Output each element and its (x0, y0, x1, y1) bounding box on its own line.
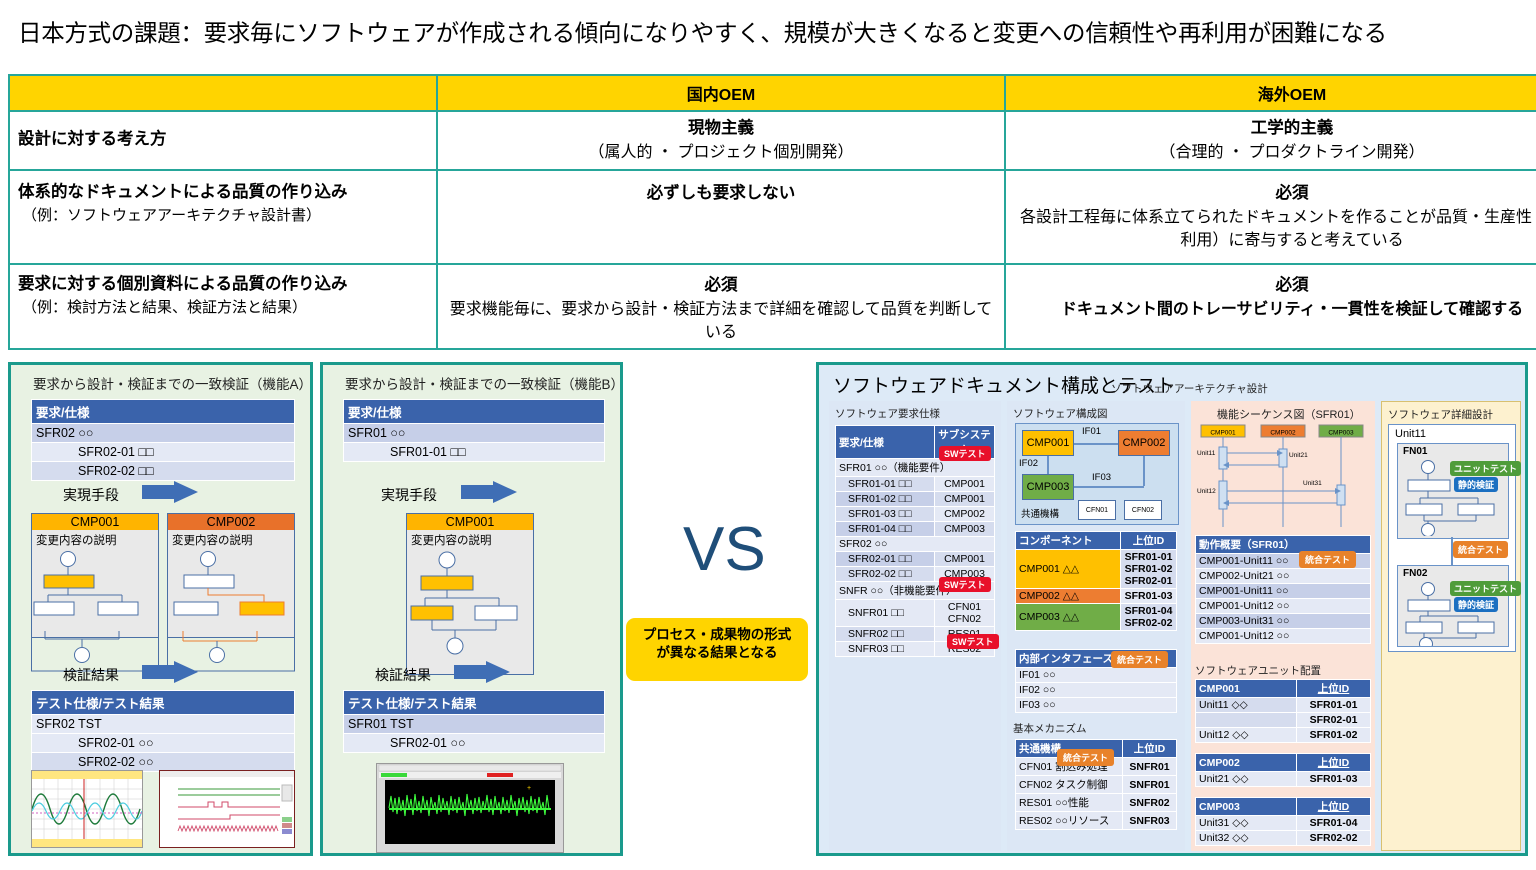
mechanism-id: SNFR01 (1123, 776, 1177, 794)
cell-sub: （合理的 ・ プロダクトライン開発） (1014, 141, 1536, 165)
unit-name: Unit32 ◇◇ (1196, 831, 1297, 846)
table-header-row: CMP001上位ID (1196, 680, 1371, 698)
unit-table-title: CMP003 (1196, 798, 1297, 816)
vs-badge-line1: プロセス・成果物の形式 (632, 626, 802, 644)
req-row: SFR01 ○○ (344, 424, 605, 443)
component-table: コンポーネント 上位ID CMP001 △△ SFR01-01 SFR01-02… (1015, 531, 1177, 631)
req-header: 要求/仕様 (32, 400, 295, 424)
unit-table-title: CMP001 (1196, 680, 1297, 698)
req-row: SFR02-02 □□ (32, 462, 295, 481)
oscilloscope-icon: + (377, 764, 563, 852)
unit-container: Unit11 FN01 (1388, 424, 1516, 652)
table-row: CFN02 タスク制御SNFR01 (1016, 776, 1177, 794)
req-id: SFR01-03 □□ (836, 507, 935, 522)
block-cmp003: CMP003 (1022, 474, 1074, 500)
table-row: RES01 ○○性能SNFR02 (1016, 794, 1177, 812)
summary-row: CMP001-Unit12 ○○ (1196, 599, 1371, 614)
down-arrow-icon (455, 479, 523, 509)
block-cmp002: CMP002 (1118, 430, 1170, 456)
component-name: CMP002 △△ (1016, 589, 1121, 604)
link-if01 (1074, 443, 1118, 445)
unit-id: SFR01-01 (1297, 698, 1371, 713)
comparison-table: 国内OEM 海外OEM 設計に対する考え方 現物主義 （属人的 ・ プロジェクト… (8, 74, 1536, 350)
summary-row: CMP003-Unit31 ○○ (1196, 614, 1371, 629)
row-label-2: 要求に対する個別資料による品質の作り込み （例：検討方法と結果、検証方法と結果） (9, 264, 437, 349)
sequence-diagram: CMP001 CMP002 CMP003 Unit11 Unit21 Unit1… (1195, 423, 1371, 533)
component-name: CMP001 (407, 514, 533, 530)
flowchart-icon (32, 550, 158, 628)
col-header-component: コンポーネント (1016, 532, 1121, 550)
test-header: テスト仕様/テスト結果 (344, 691, 605, 715)
unit-table-cmp001: CMP001上位ID Unit11 ◇◇SFR01-01 SFR02-01 Un… (1195, 679, 1371, 743)
panel-software-doc: ソフトウェアドキュメント構成とテスト ソフトウェアアーキテクチャ設計 ソフトウェ… (816, 362, 1528, 856)
mechanism-label: 基本メカニズム (1013, 721, 1087, 736)
svg-text:Unit31: Unit31 (1303, 480, 1322, 487)
component-desc: 変更内容の説明 (32, 530, 158, 550)
table-row: RES02 ○○リソースSNFR03 (1016, 812, 1177, 830)
component-desc: 変更内容の説明 (168, 530, 294, 550)
cell-sub: ドキュメント間のトレーサビリティ・一貫性を検証して確認する (1014, 298, 1536, 322)
component-box-cmp001: CMP001 変更内容の説明 (31, 513, 159, 638)
row-label-sub: （例：ソフトウェアアーキテクチャ設計書） (18, 205, 428, 227)
detail-design-label: ソフトウェア詳細設計 (1388, 407, 1493, 422)
table-row: CMP002-Unit21 ○○ (1196, 569, 1371, 584)
vs-conclusion-badge: プロセス・成果物の形式 が異なる結果となる (626, 618, 808, 681)
table-row: SFR02-01 □□CMP001 (836, 552, 995, 567)
table-row: CMP002 △△ SFR01-03 (1016, 589, 1177, 604)
table-row: CMP001-Unit12 ○○ (1196, 629, 1371, 644)
unit-id: SFR01-04 (1297, 816, 1371, 831)
req-sub: CMP001 (935, 552, 995, 567)
unit-name (1196, 713, 1297, 728)
header-domestic: 国内OEM (437, 75, 1005, 111)
cell-domestic-1: 必ずしも要求しない (437, 170, 1005, 264)
svg-text:Unit21: Unit21 (1289, 452, 1308, 459)
cell-domestic-2: 必須 要求機能毎に、要求から設計・検証方法まで詳細を確認して品質を判断している (437, 264, 1005, 349)
row-label-0: 設計に対する考え方 (9, 111, 437, 170)
req-id: SFR02-01 □□ (836, 552, 935, 567)
req-sub: CMP001 (935, 477, 995, 492)
svg-text:CMP003: CMP003 (1328, 430, 1354, 437)
down-arrow-icon (136, 479, 204, 509)
table-row: SFR02 ○○ (836, 537, 995, 552)
panel-b-arrow2-label: 検証結果 (375, 665, 431, 685)
table-row: Unit21 ◇◇SFR01-03 (1196, 772, 1371, 787)
component-ids: SFR01-03 (1121, 589, 1177, 604)
label-if03: IF03 (1092, 472, 1111, 483)
unit-name: Unit31 ◇◇ (1196, 816, 1297, 831)
unit-table-title: CMP002 (1196, 754, 1297, 772)
unit-id: SFR02-02 (1297, 831, 1371, 846)
req-group: SFR01 ○○（機能要件） (836, 459, 995, 477)
waveform-thumbnail-noise: + (376, 763, 564, 853)
structure-label: ソフトウェア構成図 (1013, 406, 1108, 421)
table-row: SFR01-04 □□CMP003 (836, 522, 995, 537)
cell-main: 必須 (446, 273, 996, 298)
function-block-fn01: FN01 (1397, 443, 1509, 539)
mechanism-name: CFN02 タスク制御 (1016, 776, 1123, 794)
link-if03-h (1074, 486, 1144, 488)
sw-test-badge: SWテスト (947, 634, 999, 649)
function-block-fn02: FN02 (1397, 565, 1509, 647)
col-header-req: 要求/仕様 (836, 426, 935, 459)
waveform-thumbnail-1 (31, 770, 143, 848)
cell-sub: 要求機能毎に、要求から設計・検証方法まで詳細を確認して品質を判断している (446, 298, 996, 344)
cell-main: 工学的主義 (1014, 116, 1536, 141)
unit-placement-label: ソフトウェアユニット配置 (1195, 663, 1321, 678)
req-id: SFR02-02 □□ (836, 567, 935, 582)
table-header-row: CMP003上位ID (1196, 798, 1371, 816)
unit-id: SFR01-03 (1297, 772, 1371, 787)
component-ids: SFR01-01 SFR01-02 SFR02-01 (1121, 550, 1177, 589)
table-header-row: CMP002上位ID (1196, 754, 1371, 772)
row-label-main: 要求に対する個別資料による品質の作り込み (18, 275, 348, 293)
function-name: FN02 (1403, 568, 1427, 579)
integration-test-badge: 統合テスト (1111, 651, 1168, 668)
table-row: CMP003 △△ SFR01-04 SFR02-02 (1016, 604, 1177, 631)
table-row: SFR01-02 □□CMP001 (836, 492, 995, 507)
table-row: CMP003-Unit31 ○○ (1196, 614, 1371, 629)
component-box-cmp001: CMP001 変更内容の説明 (406, 513, 534, 675)
flowchart-icon (168, 550, 294, 628)
panel-b-title: 要求から設計・検証までの一致検証（機能B） (345, 373, 620, 393)
component-box-cmp002: CMP002 変更内容の説明 (167, 513, 295, 638)
table-row: Unit32 ◇◇SFR02-02 (1196, 831, 1371, 846)
mechanism-id: SNFR03 (1123, 812, 1177, 830)
unit-name: Unit12 ◇◇ (1196, 728, 1297, 743)
mechanism-id: SNFR02 (1123, 794, 1177, 812)
label-if01: IF01 (1082, 426, 1101, 437)
unit-name: Unit11 (1395, 428, 1426, 440)
req-id: SFR01-04 □□ (836, 522, 935, 537)
test-row: SFR02-01 ○○ (32, 734, 295, 753)
down-arrow-icon (136, 659, 204, 689)
cell-sub: （属人的 ・ プロジェクト個別開発） (446, 141, 996, 165)
unit-test-badge: ユニットテスト (1450, 581, 1521, 596)
table-row: IF01 ○○ (1016, 668, 1177, 683)
req-id: SNFR02 □□ (836, 627, 935, 642)
table-row: SFR01 ○○（機能要件） (836, 459, 995, 477)
table-row: SFR01-01 □□CMP001 (836, 477, 995, 492)
table-row: Unit11 ◇◇SFR01-01 (1196, 698, 1371, 713)
logic-analyzer-icon (160, 771, 294, 847)
panel-feature-b: 要求から設計・検証までの一致検証（機能B） 要求/仕様 SFR01 ○○ SFR… (320, 362, 623, 856)
unit-name: Unit11 ◇◇ (1196, 698, 1297, 713)
bottom-diagram-area: 要求から設計・検証までの一致検証（機能A） 要求/仕様 SFR02 ○○ SFR… (8, 362, 1528, 862)
req-group: SFR02 ○○ (836, 537, 995, 552)
unit-id: SFR01-02 (1297, 728, 1371, 743)
test-row: SFR02-02 ○○ (32, 753, 295, 772)
col-header-upper-id: 上位ID (1297, 798, 1371, 816)
link-if03-v (1143, 456, 1145, 486)
block-cfn01: CFN01 (1078, 500, 1116, 520)
vs-badge-line2: が異なる結果となる (632, 644, 802, 662)
panel-a-req-table: 要求/仕様 SFR02 ○○ SFR02-01 □□ SFR02-02 □□ (31, 399, 295, 481)
detail-design-section: ソフトウェア詳細設計 Unit11 FN01 (1381, 401, 1521, 851)
label-if02: IF02 (1019, 458, 1038, 469)
structure-block-diagram: CMP001 CMP002 CMP003 IF01 IF02 IF03 共通機構… (1015, 423, 1179, 525)
unit-name: Unit21 ◇◇ (1196, 772, 1297, 787)
mechanism-name: RES01 ○○性能 (1016, 794, 1123, 812)
test-header: テスト仕様/テスト結果 (32, 691, 295, 715)
component-name: CMP001 (32, 514, 158, 530)
cell-domestic-0: 現物主義 （属人的 ・ プロジェクト個別開発） (437, 111, 1005, 170)
table-row: Unit12 ◇◇SFR01-02 (1196, 728, 1371, 743)
table-row: SFR01-03 □□CMP002 (836, 507, 995, 522)
static-verification-badge: 静的検証 (1454, 597, 1498, 612)
col-header-upper-id: 上位ID (1121, 532, 1177, 550)
table-row: Unit31 ◇◇SFR01-04 (1196, 816, 1371, 831)
sine-wave-icon (32, 771, 142, 847)
waveform-thumbnail-2 (159, 770, 295, 848)
cell-overseas-1: 必須 各設計工程毎に体系立てられたドキュメントを作ることが品質・生産性（再利用）… (1005, 170, 1536, 264)
panel-a-test-table: テスト仕様/テスト結果 SFR02 TST SFR02-01 ○○ SFR02-… (31, 690, 295, 772)
page-title: 日本方式の課題：要求毎にソフトウェアが作成される傾向になりやすく、規模が大きくな… (18, 14, 1518, 48)
unit-table-cmp002: CMP002上位ID Unit21 ◇◇SFR01-03 (1195, 753, 1371, 787)
col-header-upper-id: 上位ID (1297, 754, 1371, 772)
header-blank (9, 75, 437, 111)
integration-test-badge: 統合テスト (1453, 541, 1508, 558)
block-cmp001: CMP001 (1022, 430, 1074, 456)
common-mechanism-label: 共通機構 (1021, 506, 1059, 520)
cell-overseas-0: 工学的主義 （合理的 ・ プロダクトライン開発） (1005, 111, 1536, 170)
table-row: SFR02-01 (1196, 713, 1371, 728)
table-header-row: 国内OEM 海外OEM (9, 75, 1536, 111)
link-if02 (1047, 456, 1049, 474)
header-overseas: 海外OEM (1005, 75, 1536, 111)
summary-row: CMP001-Unit12 ○○ (1196, 629, 1371, 644)
req-row: SFR01-01 □□ (344, 443, 605, 462)
req-sub: CMP003 (935, 522, 995, 537)
sequence-label: 機能シーケンス図（SFR01） (1217, 406, 1361, 422)
integration-test-badge: 統合テスト (1057, 749, 1114, 766)
req-sub: CMP001 (935, 492, 995, 507)
component-name: CMP002 (168, 514, 294, 530)
component-name: CMP001 △△ (1016, 550, 1121, 589)
panel-b-req-table: 要求/仕様 SFR01 ○○ SFR01-01 □□ (343, 399, 605, 462)
block-cfn02: CFN02 (1124, 500, 1162, 520)
cell-main: 現物主義 (446, 116, 996, 141)
req-header: 要求/仕様 (344, 400, 605, 424)
req-row: SFR02-01 □□ (32, 443, 295, 462)
svg-text:Unit11: Unit11 (1197, 450, 1216, 457)
col-header-upper-id: 上位ID (1123, 740, 1177, 758)
unit-test-badge: ユニットテスト (1450, 461, 1521, 476)
vs-label: VS (683, 514, 766, 585)
row-label-1: 体系的なドキュメントによる品質の作り込み （例：ソフトウェアアーキテクチャ設計書… (9, 170, 437, 264)
static-verification-badge: 静的検証 (1454, 477, 1498, 492)
mechanism-id: SNFR01 (1123, 758, 1177, 776)
cell-overseas-2: 必須 ドキュメント間のトレーサビリティ・一貫性を検証して確認する (1005, 264, 1536, 349)
test-row: SFR02 TST (32, 715, 295, 734)
component-ids: SFR01-04 SFR02-02 (1121, 604, 1177, 631)
req-spec-section: ソフトウェア要求仕様 要求/仕様 サブシステム SFR01 ○○（機能要件） S… (829, 401, 1001, 851)
component-name: CMP003 △△ (1016, 604, 1121, 631)
unit-table-cmp003: CMP003上位ID Unit31 ◇◇SFR01-04 Unit32 ◇◇SF… (1195, 797, 1371, 846)
sequence-section: 機能シーケンス図（SFR01） CMP001 CMP002 CMP003 (1191, 401, 1375, 851)
svg-text:CMP002: CMP002 (1270, 430, 1296, 437)
req-id: SFR01-01 □□ (836, 477, 935, 492)
table-row: IF03 ○○ (1016, 698, 1177, 713)
svg-text:+: + (527, 785, 531, 792)
row-label-main: 設計に対する考え方 (18, 130, 167, 148)
row-label-main: 体系的なドキュメントによる品質の作り込み (18, 183, 348, 201)
cell-sub: 各設計工程毎に体系立てられたドキュメントを作ることが品質・生産性（再利用）に寄与… (1014, 206, 1536, 252)
panel-b-arrow1-label: 実現手段 (381, 485, 437, 505)
req-sub: CFN01 CFN02 (935, 600, 995, 627)
architecture-label: ソフトウェアアーキテクチャ設計 (1111, 381, 1268, 396)
table-header-row: コンポーネント 上位ID (1016, 532, 1177, 550)
table-row: CMP001 △△ SFR01-01 SFR01-02 SFR02-01 (1016, 550, 1177, 589)
unit-id: SFR02-01 (1297, 713, 1371, 728)
interface-row: IF01 ○○ (1016, 668, 1177, 683)
summary-row: CMP002-Unit21 ○○ (1196, 569, 1371, 584)
function-name: FN01 (1403, 446, 1427, 457)
table-row: SNFR01 □□CFN01 CFN02 (836, 600, 995, 627)
integration-test-badge: 統合テスト (1299, 551, 1356, 568)
svg-text:Unit12: Unit12 (1197, 488, 1216, 495)
panel-a-arrow2-label: 検証結果 (63, 665, 119, 685)
cell-main: 必須 (1014, 273, 1536, 298)
cell-main: 必ずしも要求しない (446, 181, 996, 206)
summary-row: CMP001-Unit11 ○○ (1196, 584, 1371, 599)
table-row: 要求に対する個別資料による品質の作り込み （例：検討方法と結果、検証方法と結果）… (9, 264, 1536, 349)
mechanism-name: RES02 ○○リソース (1016, 812, 1123, 830)
req-row: SFR02 ○○ (32, 424, 295, 443)
req-id: SNFR01 □□ (836, 600, 935, 627)
table-row: CMP001-Unit11 ○○ (1196, 584, 1371, 599)
svg-text:CMP001: CMP001 (1210, 430, 1236, 437)
test-row: SFR02-01 ○○ (344, 734, 605, 753)
panel-b-test-table: テスト仕様/テスト結果 SFR01 TST SFR02-01 ○○ (343, 690, 605, 753)
flowchart-icon (407, 550, 533, 666)
component-desc: 変更内容の説明 (407, 530, 533, 550)
down-arrow-icon (448, 659, 516, 689)
structure-section: ソフトウェア構成図 CMP001 CMP002 CMP003 IF01 IF02… (1007, 401, 1185, 851)
panel-feature-a: 要求から設計・検証までの一致検証（機能A） 要求/仕様 SFR02 ○○ SFR… (8, 362, 313, 856)
table-row: CMP001-Unit12 ○○ (1196, 599, 1371, 614)
panel-a-title: 要求から設計・検証までの一致検証（機能A） (33, 373, 310, 393)
panel-a-arrow1-label: 実現手段 (63, 485, 119, 505)
sw-test-badge: SWテスト (939, 446, 991, 461)
table-row: 体系的なドキュメントによる品質の作り込み （例：ソフトウェアアーキテクチャ設計書… (9, 170, 1536, 264)
req-id: SNFR03 □□ (836, 642, 935, 657)
col-header-upper-id: 上位ID (1297, 680, 1371, 698)
sw-test-badge: SWテスト (939, 577, 991, 592)
interface-row: IF03 ○○ (1016, 698, 1177, 713)
test-row: SFR01 TST (344, 715, 605, 734)
req-id: SFR01-02 □□ (836, 492, 935, 507)
row-label-sub: （例：検討方法と結果、検証方法と結果） (18, 297, 428, 319)
req-spec-label: ソフトウェア要求仕様 (835, 406, 940, 421)
req-sub: CMP002 (935, 507, 995, 522)
cell-main: 必須 (1014, 181, 1536, 206)
table-row: IF02 ○○ (1016, 683, 1177, 698)
table-row: 設計に対する考え方 現物主義 （属人的 ・ プロジェクト個別開発） 工学的主義 … (9, 111, 1536, 170)
interface-row: IF02 ○○ (1016, 683, 1177, 698)
